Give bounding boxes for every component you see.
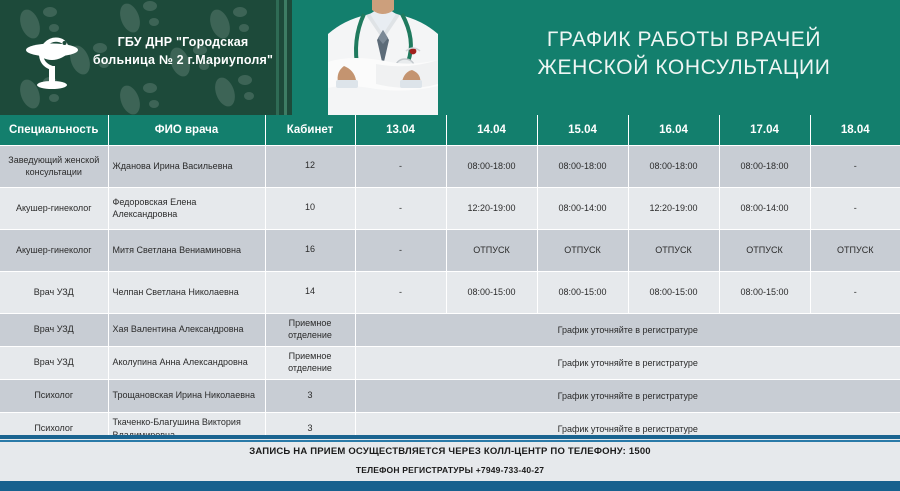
cell-schedule-day-2: 12:20-19:00 <box>446 187 537 229</box>
cell-schedule-note: График уточняйте в регистратуре <box>355 346 900 379</box>
page-title: ГРАФИК РАБОТЫ ВРАЧЕЙ ЖЕНСКОЙ КОНСУЛЬТАЦИ… <box>474 26 894 81</box>
cell-specialty: Заведующий женской консультации <box>0 145 108 187</box>
table-row: Акушер-гинекологФедоровская Елена Алекса… <box>0 187 900 229</box>
footer-callcenter-text: ЗАПИСЬ НА ПРИЕМ ОСУЩЕСТВЛЯЕТСЯ ЧЕРЕЗ КОЛ… <box>0 446 900 457</box>
column-header-date-1504: 15.04 <box>537 115 628 145</box>
cell-schedule-note: График уточняйте в регистратуре <box>355 379 900 412</box>
cell-schedule-day-1: - <box>355 145 446 187</box>
cell-schedule-day-1: - <box>355 187 446 229</box>
hospital-name: ГБУ ДНР "Городская больница № 2 г.Мариуп… <box>88 33 278 69</box>
cell-schedule-day-3: 08:00-15:00 <box>537 271 628 313</box>
column-header-date-1304: 13.04 <box>355 115 446 145</box>
cell-specialty: Врач УЗД <box>0 271 108 313</box>
panel-edge-stripe-2 <box>284 0 287 115</box>
table-row: Врач УЗДЧелпан Светлана Николаевна14-08:… <box>0 271 900 313</box>
column-header-doctor: ФИО врача <box>108 115 265 145</box>
cell-schedule-day-3: 08:00-18:00 <box>537 145 628 187</box>
cell-doctor-name: Трощановская Ирина Николаевна <box>108 379 265 412</box>
cell-schedule-day-3: ОТПУСК <box>537 229 628 271</box>
cell-schedule-day-5: 08:00-15:00 <box>719 271 810 313</box>
logo-panel: ГБУ ДНР "Городская больница № 2 г.Мариуп… <box>0 0 292 115</box>
table-head: Специальность ФИО врача Кабинет 13.04 14… <box>0 115 900 145</box>
bowl-of-hygieia-icon <box>22 28 82 90</box>
cell-room: 16 <box>265 229 355 271</box>
cell-doctor-name: Митя Светлана Вениаминовна <box>108 229 265 271</box>
cell-schedule-day-2: 08:00-15:00 <box>446 271 537 313</box>
table-row: Акушер-гинекологМитя Светлана Вениаминов… <box>0 229 900 271</box>
cell-specialty: Акушер-гинеколог <box>0 229 108 271</box>
footer-divider-thick <box>0 435 900 439</box>
cell-schedule-day-4: 12:20-19:00 <box>628 187 719 229</box>
cell-schedule-day-4: 08:00-15:00 <box>628 271 719 313</box>
column-header-date-1804: 18.04 <box>810 115 900 145</box>
cell-schedule-day-4: 08:00-18:00 <box>628 145 719 187</box>
cell-schedule-day-3: 08:00-14:00 <box>537 187 628 229</box>
cell-room: 14 <box>265 271 355 313</box>
cell-room: 3 <box>265 379 355 412</box>
cell-doctor-name: Федоровская Елена Александровна <box>108 187 265 229</box>
column-header-date-1704: 17.04 <box>719 115 810 145</box>
table-body: Заведующий женской консультацииЖданова И… <box>0 145 900 445</box>
cell-doctor-name: Хая Валентина Александровна <box>108 313 265 346</box>
footer-divider-thin <box>0 440 900 442</box>
cell-doctor-name: Жданова Ирина Васильевна <box>108 145 265 187</box>
cell-schedule-day-1: - <box>355 271 446 313</box>
cell-schedule-day-2: 08:00-18:00 <box>446 145 537 187</box>
schedule-table: Специальность ФИО врача Кабинет 13.04 14… <box>0 115 900 446</box>
table-row: Врач УЗДХая Валентина АлександровнаПрием… <box>0 313 900 346</box>
cell-doctor-name: Челпан Светлана Николаевна <box>108 271 265 313</box>
cell-schedule-day-6: - <box>810 187 900 229</box>
title-line-1: ГРАФИК РАБОТЫ ВРАЧЕЙ <box>474 26 894 54</box>
cell-schedule-day-1: - <box>355 229 446 271</box>
cell-specialty: Врач УЗД <box>0 313 108 346</box>
doctor-illustration <box>292 0 474 115</box>
cell-specialty: Психолог <box>0 379 108 412</box>
cell-room: Приемное отделение <box>265 313 355 346</box>
cell-schedule-day-5: 08:00-18:00 <box>719 145 810 187</box>
cell-specialty: Врач УЗД <box>0 346 108 379</box>
cell-room: 12 <box>265 145 355 187</box>
cell-schedule-day-6: - <box>810 145 900 187</box>
poster-header: ГБУ ДНР "Городская больница № 2 г.Мариуп… <box>0 0 900 115</box>
table-row: Заведующий женской консультацииЖданова И… <box>0 145 900 187</box>
schedule-table-container: Специальность ФИО врача Кабинет 13.04 14… <box>0 115 900 435</box>
table-row: ПсихологТрощановская Ирина Николаевна3Гр… <box>0 379 900 412</box>
schedule-poster: ГБУ ДНР "Городская больница № 2 г.Мариуп… <box>0 0 900 491</box>
cell-schedule-day-2: ОТПУСК <box>446 229 537 271</box>
table-header-row: Специальность ФИО врача Кабинет 13.04 14… <box>0 115 900 145</box>
cell-schedule-day-4: ОТПУСК <box>628 229 719 271</box>
cell-schedule-note: График уточняйте в регистратуре <box>355 313 900 346</box>
footer-bottom-bar <box>0 481 900 491</box>
cell-specialty: Акушер-гинеколог <box>0 187 108 229</box>
column-header-specialty: Специальность <box>0 115 108 145</box>
cell-doctor-name: Аколупина Анна Александровна <box>108 346 265 379</box>
panel-edge-stripe-1 <box>276 0 279 115</box>
doctor-photo <box>292 0 474 115</box>
column-header-date-1604: 16.04 <box>628 115 719 145</box>
cell-schedule-day-6: - <box>810 271 900 313</box>
column-header-room: Кабинет <box>265 115 355 145</box>
table-row: Врач УЗДАколупина Анна АлександровнаПрие… <box>0 346 900 379</box>
title-line-2: ЖЕНСКОЙ КОНСУЛЬТАЦИИ <box>474 54 894 82</box>
cell-room: 10 <box>265 187 355 229</box>
cell-schedule-day-6: ОТПУСК <box>810 229 900 271</box>
cell-schedule-day-5: ОТПУСК <box>719 229 810 271</box>
footer-registry-phone: ТЕЛЕФОН РЕГИСТРАТУРЫ +7949-733-40-27 <box>0 465 900 475</box>
cell-room: Приемное отделение <box>265 346 355 379</box>
poster-footer: ЗАПИСЬ НА ПРИЕМ ОСУЩЕСТВЛЯЕТСЯ ЧЕРЕЗ КОЛ… <box>0 435 900 491</box>
cell-schedule-day-5: 08:00-14:00 <box>719 187 810 229</box>
column-header-date-1404: 14.04 <box>446 115 537 145</box>
